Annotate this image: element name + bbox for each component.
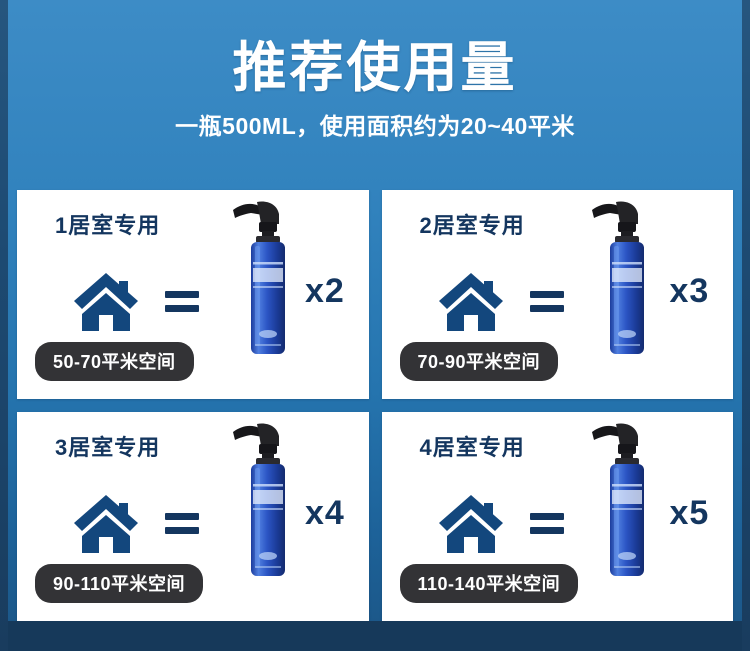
house-icon [69,493,143,555]
house-icon [434,493,508,555]
page-subtitle: 一瓶500ML，使用面积约为20~40平米 [0,107,750,141]
multiplier-label: x3 [670,272,710,311]
equals-sign [165,289,199,315]
multiplier-label: x5 [670,494,710,533]
usage-card-grid: 1居室专用 [17,190,733,621]
promo-page: 推荐使用量 一瓶500ML，使用面积约为20~40平米 1居室专用 [0,0,750,651]
bottom-edge-band [0,621,750,651]
card-title: 4居室专用 [420,430,525,462]
usage-card: 1居室专用 [17,190,369,399]
card-title: 2居室专用 [420,208,525,240]
spray-bottle-icon [229,198,295,358]
house-icon [69,271,143,333]
area-badge: 90-110平米空间 [35,564,203,603]
spray-bottle-icon [588,420,654,580]
usage-card: 2居室专用 [382,190,734,399]
spray-bottle-icon [229,420,295,580]
spray-bottle-icon [588,198,654,358]
multiplier-label: x4 [305,494,345,533]
page-title: 推荐使用量 [0,0,750,97]
equals-sign [530,289,564,315]
area-badge: 70-90平米空间 [400,342,559,381]
left-edge-rail [0,0,8,651]
multiplier-label: x2 [305,272,345,311]
header: 推荐使用量 一瓶500ML，使用面积约为20~40平米 [0,0,750,178]
equals-sign [530,511,564,537]
card-title: 3居室专用 [55,430,160,462]
area-badge: 110-140平米空间 [400,564,579,603]
equals-sign [165,511,199,537]
usage-card: 4居室专用 [382,412,734,621]
house-icon [434,271,508,333]
right-edge-rail [742,0,750,651]
usage-card: 3居室专用 [17,412,369,621]
area-badge: 50-70平米空间 [35,342,194,381]
card-title: 1居室专用 [55,208,160,240]
